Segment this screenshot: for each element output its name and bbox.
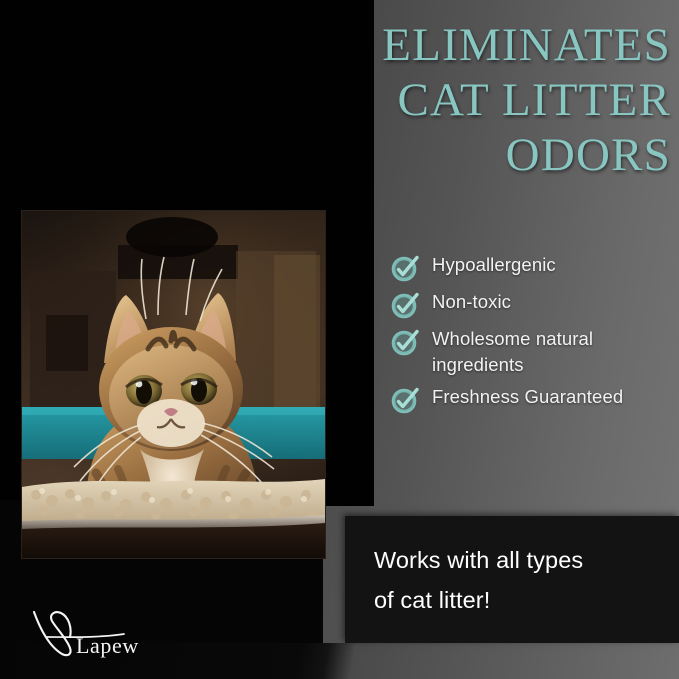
brand-logo: Lapew xyxy=(28,604,160,664)
benefits-list: Hypoallergenic Non-toxic Wholesome n xyxy=(390,252,675,421)
benefit-label: Wholesome natural ingredients xyxy=(432,326,675,378)
check-circle-icon xyxy=(390,253,420,283)
benefit-item: Wholesome natural ingredients xyxy=(390,326,675,378)
headline: ELIMINATES CAT LITTER ODORS xyxy=(250,18,671,183)
benefit-label: Hypoallergenic xyxy=(432,252,556,278)
benefit-label: Non-toxic xyxy=(432,289,511,315)
benefit-label: Freshness Guaranteed xyxy=(432,384,623,410)
check-circle-icon xyxy=(390,290,420,320)
benefit-item: Non-toxic xyxy=(390,289,675,320)
callout-line-1: Works with all types xyxy=(374,540,664,580)
product-ad-image: ELIMINATES CAT LITTER ODORS xyxy=(0,0,679,679)
kitten-photo-illustration xyxy=(22,211,325,558)
check-circle-icon xyxy=(390,385,420,415)
benefit-item: Freshness Guaranteed xyxy=(390,384,675,415)
logo-wordmark: Lapew xyxy=(76,633,139,659)
callout-text: Works with all types of cat litter! xyxy=(374,540,664,620)
kitten-litter-box-photo xyxy=(22,211,325,558)
headline-line-1: ELIMINATES xyxy=(250,18,671,73)
headline-line-2: CAT LITTER xyxy=(250,73,671,128)
callout-line-2: of cat litter! xyxy=(374,580,664,620)
callout-box: Works with all types of cat litter! xyxy=(345,516,679,643)
headline-line-3: ODORS xyxy=(250,128,671,183)
benefit-item: Hypoallergenic xyxy=(390,252,675,283)
check-circle-icon xyxy=(390,327,420,357)
